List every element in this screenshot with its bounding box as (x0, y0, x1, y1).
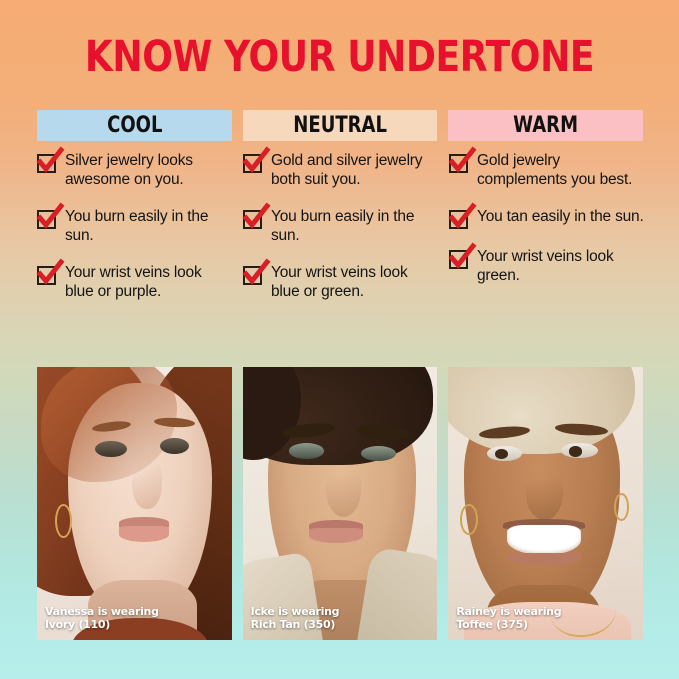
checklist-item: Silver jewelry looks awesome on you. (37, 152, 232, 189)
checklist-column-neutral: Gold and silver jewelry both suit you. Y… (243, 152, 438, 320)
column-header-warm: WARM (448, 110, 643, 141)
photo-caption-cool: Vanessa is wearing Ivory (110) (45, 605, 159, 631)
checklist-item-text: Gold jewelry complements you best. (477, 152, 644, 189)
portrait-vanessa (37, 367, 232, 640)
model-photo-neutral: Icke is wearing Rich Tan (350) (243, 367, 438, 640)
model-photo-row: Vanessa is wearing Ivory (110) (37, 367, 643, 640)
column-header-cool: COOL (37, 110, 232, 141)
checklist-item: Gold and silver jewelry both suit you. (243, 152, 438, 189)
model-photo-warm: Rainey is wearing Toffee (375) (448, 367, 643, 640)
checklist-item-text: You tan easily in the sun. (477, 208, 644, 227)
hoop-earring-icon (460, 504, 478, 535)
page-title: KNOW YOUR UNDERTONE (54, 34, 624, 80)
hoop-earring-icon (55, 504, 72, 538)
photo-caption-line1: Rainey is wearing (456, 605, 561, 618)
undertone-header-row: COOL NEUTRAL WARM (37, 110, 643, 141)
column-header-neutral: NEUTRAL (243, 110, 438, 141)
checklist-item: Your wrist veins look green. (449, 248, 644, 285)
checklist-item: You burn easily in the sun. (37, 208, 232, 245)
portrait-icke (243, 367, 438, 640)
checklist-item: You tan easily in the sun. (449, 208, 644, 229)
checked-checkbox-icon (449, 154, 468, 173)
checklist-item-text: Your wrist veins look blue or purple. (65, 264, 232, 301)
portrait-rainey (448, 367, 643, 640)
checked-checkbox-icon (37, 210, 56, 229)
checked-checkbox-icon (243, 210, 262, 229)
photo-caption-warm: Rainey is wearing Toffee (375) (456, 605, 561, 631)
photo-caption-neutral: Icke is wearing Rich Tan (350) (251, 605, 340, 631)
checklist-column-cool: Silver jewelry looks awesome on you. You… (37, 152, 232, 320)
checklist-item: Your wrist veins look blue or green. (243, 264, 438, 301)
model-photo-cool: Vanessa is wearing Ivory (110) (37, 367, 232, 640)
checklist-item: You burn easily in the sun. (243, 208, 438, 245)
column-header-neutral-label: NEUTRAL (293, 113, 387, 138)
checklist-item: Gold jewelry complements you best. (449, 152, 644, 189)
undertone-infographic: KNOW YOUR UNDERTONE COOL NEUTRAL WARM Si… (0, 0, 679, 679)
checked-checkbox-icon (37, 266, 56, 285)
checked-checkbox-icon (243, 266, 262, 285)
checklist-item: Your wrist veins look blue or purple. (37, 264, 232, 301)
checklist-item-text: Your wrist veins look green. (477, 248, 644, 285)
photo-caption-line2: Rich Tan (350) (251, 618, 340, 631)
checklist-item-text: Gold and silver jewelry both suit you. (271, 152, 438, 189)
checked-checkbox-icon (37, 154, 56, 173)
checked-checkbox-icon (243, 154, 262, 173)
checklist-column-warm: Gold jewelry complements you best. You t… (449, 152, 644, 320)
checklist-item-text: Silver jewelry looks awesome on you. (65, 152, 232, 189)
photo-caption-line1: Vanessa is wearing (45, 605, 159, 618)
checklist-item-text: You burn easily in the sun. (65, 208, 232, 245)
checked-checkbox-icon (449, 210, 468, 229)
column-header-cool-label: COOL (107, 113, 162, 138)
photo-caption-line1: Icke is wearing (251, 605, 340, 618)
checked-checkbox-icon (449, 250, 468, 269)
undertone-checklist: Silver jewelry looks awesome on you. You… (37, 152, 657, 320)
photo-caption-line2: Ivory (110) (45, 618, 159, 631)
photo-caption-line2: Toffee (375) (456, 618, 561, 631)
checklist-item-text: You burn easily in the sun. (271, 208, 438, 245)
checklist-item-text: Your wrist veins look blue or green. (271, 264, 438, 301)
column-header-warm-label: WARM (513, 113, 578, 138)
